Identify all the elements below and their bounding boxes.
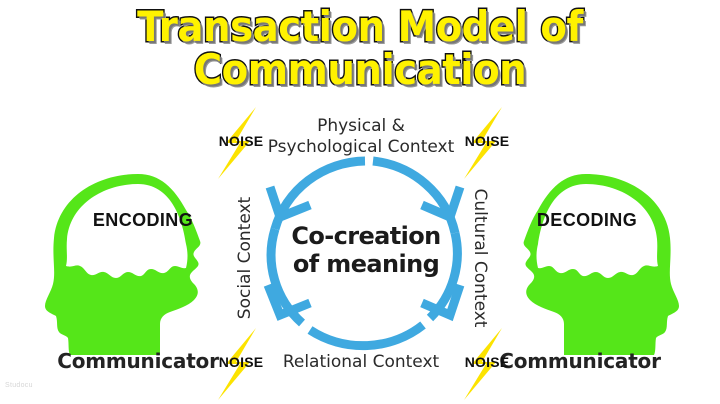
title-line-2: Communication [29,49,691,92]
infographic-canvas: Transaction Model of Communication ENCOD… [0,0,720,404]
cycle-arc-bottom [310,325,423,346]
noise-label: NOISE [198,354,284,370]
watermark: Studocu [5,382,33,389]
noise-marker-bottom-left: NOISE [198,326,284,402]
context-top-line-2: Psychological Context [255,137,467,158]
page-title: Transaction Model of Communication [0,6,720,92]
center-line-1: Co-creation [268,222,464,250]
context-top-line-1: Physical & [255,116,467,137]
center-label: Co-creation of meaning [268,222,464,279]
cycle-arrowhead-bottom-left [268,285,310,315]
social-context-label: Social Context [235,183,255,333]
cultural-context-label: Cultural Context [470,183,490,333]
physical-psychological-context-label: Physical & Psychological Context [255,116,467,157]
title-line-1: Transaction Model of [29,6,691,49]
noise-label: NOISE [198,133,284,149]
noise-marker-top-right: NOISE [444,105,530,181]
center-line-2: of meaning [268,250,464,278]
noise-label: NOISE [444,354,530,370]
noise-label: NOISE [444,133,530,149]
noise-marker-top-left: NOISE [198,105,284,181]
noise-marker-bottom-right: NOISE [444,326,530,402]
relational-context-label: Relational Context [255,352,467,372]
cycle-arc-upper-left [275,161,365,229]
